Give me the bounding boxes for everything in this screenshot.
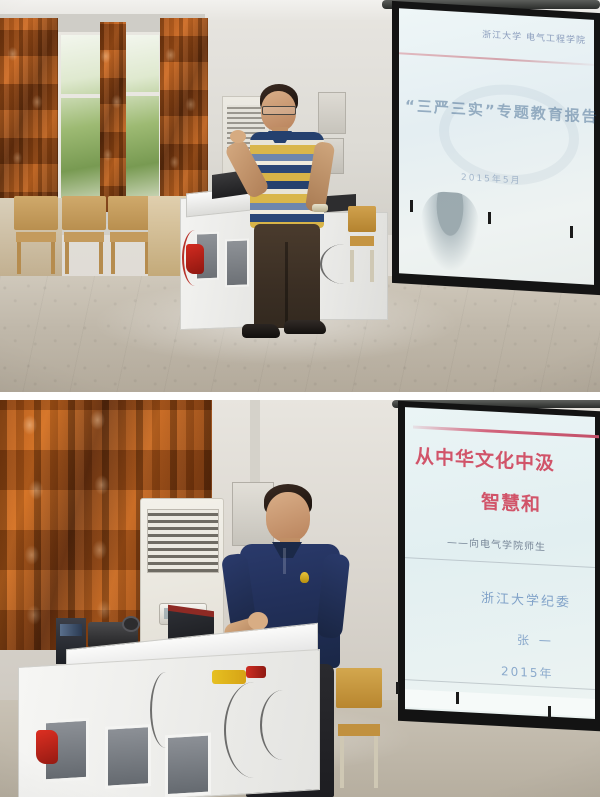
cable — [260, 690, 306, 760]
chair-back — [62, 196, 106, 230]
chair-leg — [111, 242, 115, 274]
slide-bottom-band — [405, 689, 595, 717]
screen-surface: 浙江大学 电气工程学院 “三严三实”专题教育报告 2015年5月 — [399, 8, 594, 285]
chair-seat — [64, 232, 104, 242]
presenter-striped-polo — [236, 84, 340, 356]
photo-separator — [0, 392, 600, 400]
chair-seat — [110, 232, 150, 242]
photo-collage: 浙江大学 电气工程学院 “三严三实”专题教育报告 2015年5月 — [0, 0, 600, 797]
curtain-left — [0, 18, 58, 218]
chair-back — [348, 206, 376, 232]
projection-screen-bottom: 从中华文化中汲 智慧和 ——向电气学院师生 浙江大学纪委 张 一 2015年 — [398, 400, 600, 730]
chair-leg — [51, 242, 55, 274]
screen-hook — [410, 200, 413, 212]
power-adapter-yellow — [212, 670, 246, 684]
chair-back — [14, 196, 58, 230]
slide-organization: 浙江大学纪委 — [481, 587, 571, 611]
screen-frame: 浙江大学 电气工程学院 “三严三实”专题教育报告 2015年5月 — [392, 1, 600, 295]
slide-accent-rule — [399, 52, 594, 66]
screen-hook — [456, 692, 459, 704]
chair-seat — [350, 236, 374, 246]
shirt-placket — [283, 548, 286, 574]
slide-title-line1: 从中华文化中汲 — [415, 442, 555, 476]
projector-lens — [122, 616, 140, 632]
ac-grille — [147, 509, 219, 573]
lectern-panel — [105, 724, 151, 789]
power-adapter-red — [246, 666, 266, 678]
slide-presenter-name: 张 一 — [517, 631, 554, 650]
slide-title-line2: 智慧和 — [481, 487, 541, 517]
red-cloth — [36, 730, 58, 764]
chair-seat — [16, 232, 56, 242]
window-mullion — [58, 94, 104, 98]
window-mullion — [122, 92, 162, 96]
trousers — [254, 224, 320, 328]
curtain-middle — [100, 22, 126, 212]
chair-leg — [350, 250, 354, 282]
window-left — [58, 32, 104, 204]
chair-leg — [65, 242, 69, 274]
wooden-chair — [14, 196, 58, 274]
shoe — [242, 324, 280, 338]
chair-leg — [17, 242, 21, 274]
wristwatch — [312, 204, 328, 212]
wooden-chair — [348, 206, 376, 282]
slide-divider — [405, 557, 595, 568]
presenter-shadow — [421, 191, 479, 272]
screen-frame: 从中华文化中汲 智慧和 ——向电气学院师生 浙江大学纪委 张 一 2015年 — [398, 401, 600, 732]
wooden-chair — [108, 196, 152, 274]
wooden-chair — [62, 196, 106, 274]
slide-accent-rule — [413, 425, 599, 438]
screen-hook — [396, 682, 399, 694]
shoe — [284, 320, 326, 334]
chair-leg — [99, 242, 103, 274]
screen-hook — [488, 212, 491, 224]
window-wall — [0, 14, 205, 224]
slide-date: 2015年 — [501, 662, 554, 682]
window-right — [122, 32, 162, 200]
projection-screen-top: 浙江大学 电气工程学院 “三严三实”专题教育报告 2015年5月 — [392, 0, 600, 292]
eyeglasses — [262, 106, 296, 115]
chair-leg — [370, 250, 374, 282]
chair-back — [108, 196, 152, 230]
cable — [150, 672, 182, 748]
head — [266, 492, 310, 542]
left-hand — [230, 130, 246, 143]
slide-subtitle: ——向电气学院师生 — [447, 533, 546, 553]
slide-date: 2015年5月 — [461, 170, 522, 187]
lecture-photo-bottom: 从中华文化中汲 智慧和 ——向电气学院师生 浙江大学纪委 张 一 2015年 — [0, 400, 600, 797]
slide-logo-text: 浙江大学 电气工程学院 — [409, 23, 586, 54]
cable — [182, 230, 208, 286]
shirt-logo — [300, 572, 309, 583]
slide-divider — [405, 679, 595, 690]
screen-hook — [570, 226, 573, 238]
chair-leg — [374, 736, 378, 788]
lecture-photo-top: 浙江大学 电气工程学院 “三严三实”专题教育报告 2015年5月 — [0, 0, 600, 392]
screen-surface: 从中华文化中汲 智慧和 ——向电气学院师生 浙江大学纪委 张 一 2015年 — [405, 407, 595, 719]
wall-conduit — [250, 400, 260, 484]
screen-hook — [548, 706, 551, 718]
